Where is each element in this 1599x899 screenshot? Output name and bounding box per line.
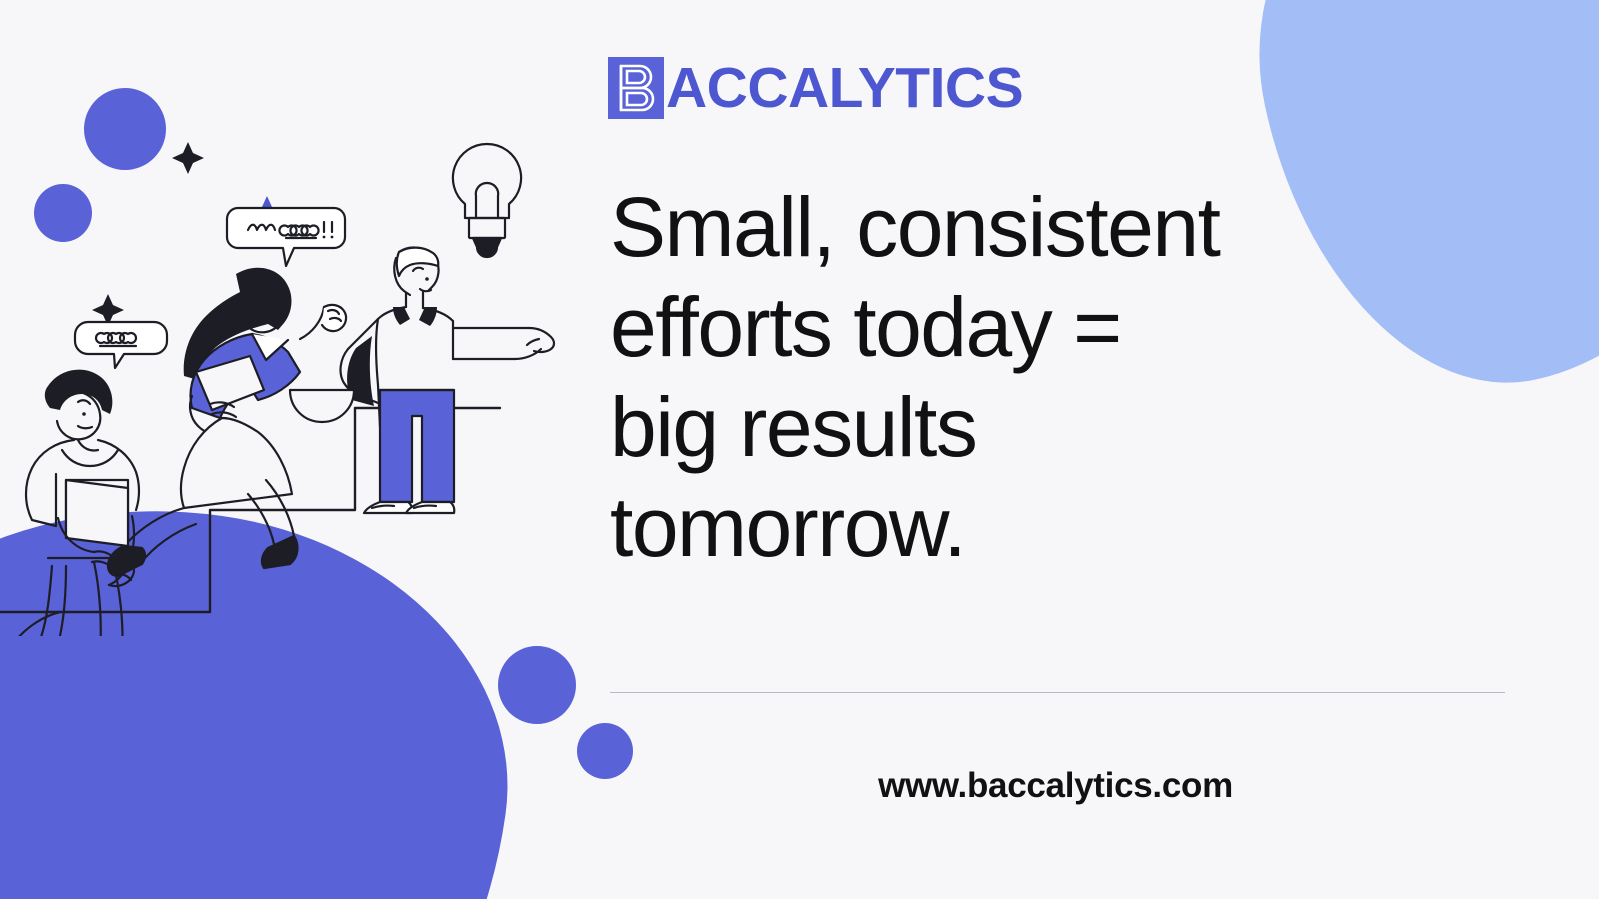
headline-line-4: tomorrow. xyxy=(610,478,1510,578)
figure-walking-with-book xyxy=(0,322,167,636)
divider xyxy=(610,692,1505,693)
brand-logo: ACCALYTICS xyxy=(608,52,1023,124)
page-title: Small, consistent efforts today = big re… xyxy=(610,178,1510,578)
decor-circle-large-bottom-center xyxy=(498,646,576,724)
poster-canvas: ACCALYTICS Small, consistent efforts tod… xyxy=(0,0,1599,899)
headline-line-1: Small, consistent xyxy=(610,178,1510,278)
headline-line-2: efforts today = xyxy=(610,278,1510,378)
speech-bubble-icon xyxy=(227,208,345,266)
logo-b-mark-icon xyxy=(608,57,664,119)
lightbulb-icon xyxy=(453,144,521,257)
speech-bubble-icon xyxy=(75,322,167,368)
people-climbing-stairs-illustration xyxy=(0,96,560,636)
brand-name: ACCALYTICS xyxy=(666,60,1023,117)
sparkle-icon xyxy=(172,142,204,174)
figure-pointing-man xyxy=(290,248,554,513)
headline-line-3: big results xyxy=(610,378,1510,478)
content-column: ACCALYTICS Small, consistent efforts tod… xyxy=(608,0,1508,899)
website-url: www.baccalytics.com xyxy=(608,766,1503,806)
